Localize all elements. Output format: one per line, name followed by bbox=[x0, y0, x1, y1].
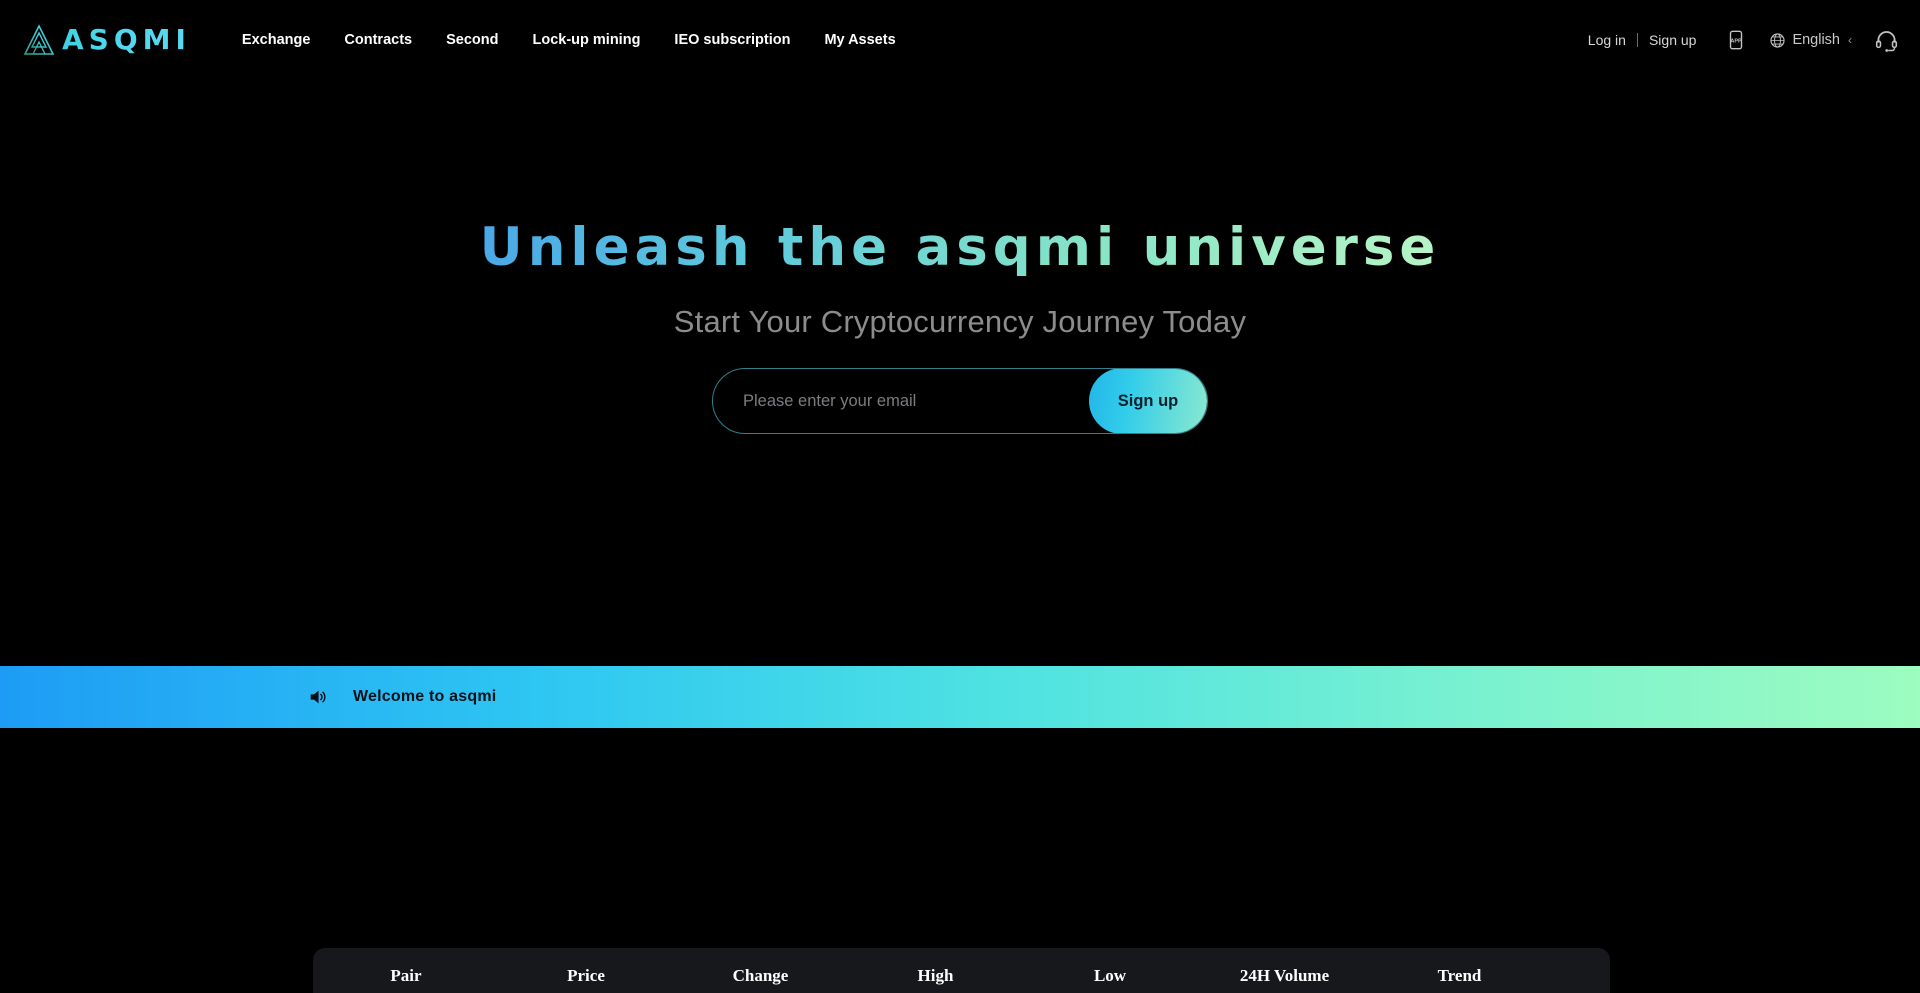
chevron-left-icon: ‹ bbox=[1848, 33, 1852, 47]
market-table-header-row: Pair Price Change High Low 24H Volume Tr… bbox=[313, 948, 1610, 993]
column-header-pair[interactable]: Pair bbox=[313, 966, 499, 986]
column-header-price[interactable]: Price bbox=[499, 966, 673, 986]
headset-glyph bbox=[1874, 28, 1899, 53]
app-phone-icon[interactable]: APP bbox=[1723, 27, 1749, 53]
hero-subtitle: Start Your Cryptocurrency Journey Today bbox=[674, 304, 1246, 340]
nav-item-lock-up-mining[interactable]: Lock-up mining bbox=[515, 0, 657, 80]
page-title: Unleash the asqmi universe bbox=[480, 219, 1441, 277]
signup-submit-button[interactable]: Sign up bbox=[1089, 368, 1207, 434]
brand-logo[interactable]: ASQMI bbox=[22, 23, 191, 57]
column-header-high[interactable]: High bbox=[848, 966, 1023, 986]
column-header-24h-volume[interactable]: 24H Volume bbox=[1197, 966, 1372, 986]
column-header-low[interactable]: Low bbox=[1023, 966, 1197, 986]
nav-item-exchange[interactable]: Exchange bbox=[225, 0, 328, 80]
nav-item-ieo-subscription[interactable]: IEO subscription bbox=[657, 0, 807, 80]
language-selector[interactable]: English ‹ bbox=[1769, 32, 1852, 49]
login-link[interactable]: Log in bbox=[1577, 32, 1637, 48]
email-input[interactable] bbox=[713, 369, 1089, 433]
signup-link[interactable]: Sign up bbox=[1638, 32, 1707, 48]
column-header-change[interactable]: Change bbox=[673, 966, 848, 986]
announcement-text: Welcome to asqmi bbox=[353, 688, 496, 706]
brand-wordmark: ASQMI bbox=[62, 26, 191, 54]
hero-section: Unleash the asqmi universe Start Your Cr… bbox=[0, 80, 1920, 660]
column-header-trend[interactable]: Trend bbox=[1372, 966, 1547, 986]
main-nav: Exchange Contracts Second Lock-up mining… bbox=[225, 0, 913, 80]
language-label: English bbox=[1792, 32, 1840, 48]
app-phone-glyph: APP bbox=[1725, 29, 1747, 51]
headset-icon[interactable] bbox=[1872, 26, 1900, 54]
email-signup-form: Sign up bbox=[712, 368, 1208, 434]
nav-item-contracts[interactable]: Contracts bbox=[327, 0, 429, 80]
svg-text:APP: APP bbox=[1731, 38, 1743, 44]
header-actions: Log in Sign up APP English ‹ bbox=[1577, 26, 1900, 54]
globe-icon bbox=[1769, 32, 1786, 49]
speaker-icon bbox=[307, 686, 329, 708]
mountain-logo-icon bbox=[22, 23, 56, 57]
nav-item-second[interactable]: Second bbox=[429, 0, 515, 80]
site-header: ASQMI Exchange Contracts Second Lock-up … bbox=[0, 0, 1920, 80]
market-table: Pair Price Change High Low 24H Volume Tr… bbox=[313, 948, 1610, 993]
announcement-banner[interactable]: Welcome to asqmi bbox=[0, 666, 1920, 728]
nav-item-my-assets[interactable]: My Assets bbox=[807, 0, 912, 80]
auth-links: Log in Sign up bbox=[1577, 32, 1708, 48]
